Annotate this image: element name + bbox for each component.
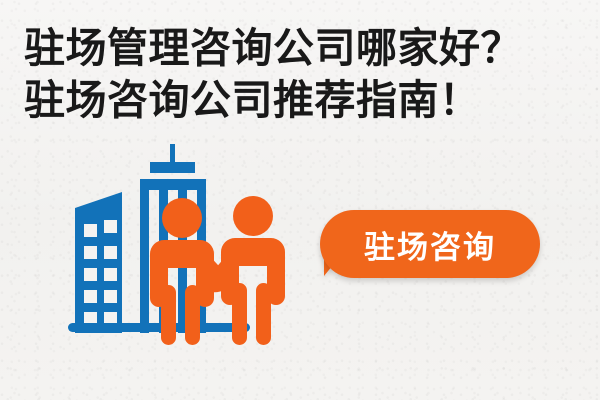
illustration-buildings-handshake [60, 140, 300, 345]
ground-bar [68, 323, 250, 332]
headline-block: 驻场管理咨询公司哪家好？ 驻场咨询公司推荐指南！ [24, 22, 576, 126]
headline-line-2: 驻场咨询公司推荐指南！ [24, 74, 576, 126]
side-building-icon [75, 192, 122, 333]
badge-label: 驻场咨询 [320, 210, 540, 278]
speech-bubble-badge[interactable]: 驻场咨询 [320, 210, 540, 278]
poster-canvas: 驻场管理咨询公司哪家好？ 驻场咨询公司推荐指南！ [0, 0, 600, 400]
headline-line-1: 驻场管理咨询公司哪家好？ [24, 22, 576, 74]
